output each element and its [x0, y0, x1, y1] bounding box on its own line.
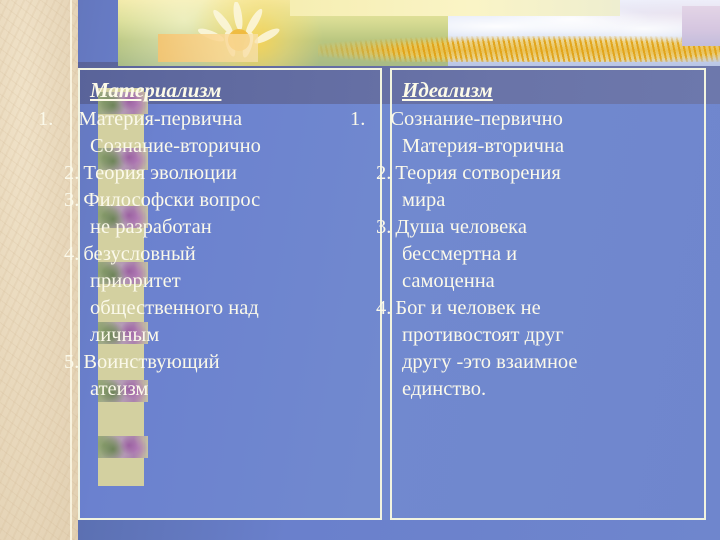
list-item: атеизм [90, 376, 372, 402]
list-item-text: безусловный [83, 243, 195, 265]
materialism-text-box[interactable]: Материализм 1.Материя-первичнаСознание-в… [78, 68, 382, 520]
list-item: Сознание-вторично [90, 133, 372, 159]
list-item: общественного над [90, 295, 372, 321]
list-item-number: 2. [64, 162, 83, 184]
list-item: 1.Материя-первична [90, 106, 372, 132]
list-item: приоритет [90, 268, 372, 294]
list-item-number: 3. [376, 216, 395, 238]
presentation-slide: Материализм 1.Материя-первичнаСознание-в… [0, 0, 720, 540]
list-item: 4.безусловный [90, 241, 372, 267]
list-item-text: Бог и человек не [395, 297, 540, 319]
band-highlight-strip [290, 0, 620, 16]
list-item: 1.Сознание-первично [402, 106, 696, 132]
materialism-list: 1.Материя-первичнаСознание-вторично2.Тео… [90, 106, 372, 402]
list-item: 2.Теория эволюции [90, 160, 372, 186]
list-item: личным [90, 322, 372, 348]
list-item: 5.Воинствующий [90, 349, 372, 375]
list-item-text: другу -это взаимное [402, 351, 578, 373]
slide-background-bottom-strip [0, 520, 720, 540]
list-item-text: мира [402, 189, 445, 211]
list-item: 4.Бог и человек не [402, 295, 696, 321]
list-item-text: единство. [402, 378, 486, 400]
list-item-text: Теория эволюции [83, 162, 237, 184]
list-item-text: приоритет [90, 270, 181, 292]
list-item-text: личным [90, 324, 159, 346]
list-item-text: Душа человека [395, 216, 527, 238]
list-item-text: не разработан [90, 216, 212, 238]
idealism-heading: Идеализм [402, 76, 696, 104]
list-item: единство. [402, 376, 696, 402]
decorative-nature-band [118, 0, 720, 66]
list-item-text: противостоят друг [402, 324, 564, 346]
list-item: другу -это взаимное [402, 349, 696, 375]
list-item-text: Материя-вторична [402, 135, 564, 157]
wheat-field-icon [318, 36, 720, 62]
list-item-text: бессмертна и [402, 243, 517, 265]
list-item: самоценна [402, 268, 696, 294]
idealism-text-box[interactable]: Идеализм 1.Сознание-первичноМатерия-втор… [390, 68, 706, 520]
idealism-list: 1.Сознание-первичноМатерия-вторична2.Тео… [402, 106, 696, 402]
list-item: бессмертна и [402, 241, 696, 267]
list-item-text: Сознание-вторично [90, 135, 261, 157]
list-item: Материя-вторична [402, 133, 696, 159]
list-item: 2.Теория сотворения [402, 160, 696, 186]
list-item-text: Теория сотворения [395, 162, 560, 184]
list-item-text: общественного над [90, 297, 259, 319]
list-item: не разработан [90, 214, 372, 240]
list-item-number: 1. [38, 108, 78, 130]
list-item-number: 1. [350, 108, 390, 130]
materialism-heading: Материализм [90, 76, 372, 104]
list-item: мира [402, 187, 696, 213]
list-item-number: 5. [64, 351, 83, 373]
list-item: 3.Философски вопрос [90, 187, 372, 213]
parchment-left-margin [0, 0, 78, 540]
parchment-divider-line [70, 0, 72, 540]
list-item-number: 4. [376, 297, 395, 319]
list-item: противостоят друг [402, 322, 696, 348]
list-item-text: Воинствующий [83, 351, 219, 373]
list-item-number: 2. [376, 162, 395, 184]
list-item-text: самоценна [402, 270, 495, 292]
list-item: 3.Душа человека [402, 214, 696, 240]
list-item-text: Материя-первична [78, 108, 242, 130]
band-pink-edge [682, 6, 720, 46]
list-item-text: Философски вопрос [83, 189, 260, 211]
list-item-number: 4. [64, 243, 83, 265]
list-item-text: атеизм [90, 378, 148, 400]
list-item-text: Сознание-первично [390, 108, 562, 130]
band-orange-tab [158, 34, 258, 62]
list-item-number: 3. [64, 189, 83, 211]
